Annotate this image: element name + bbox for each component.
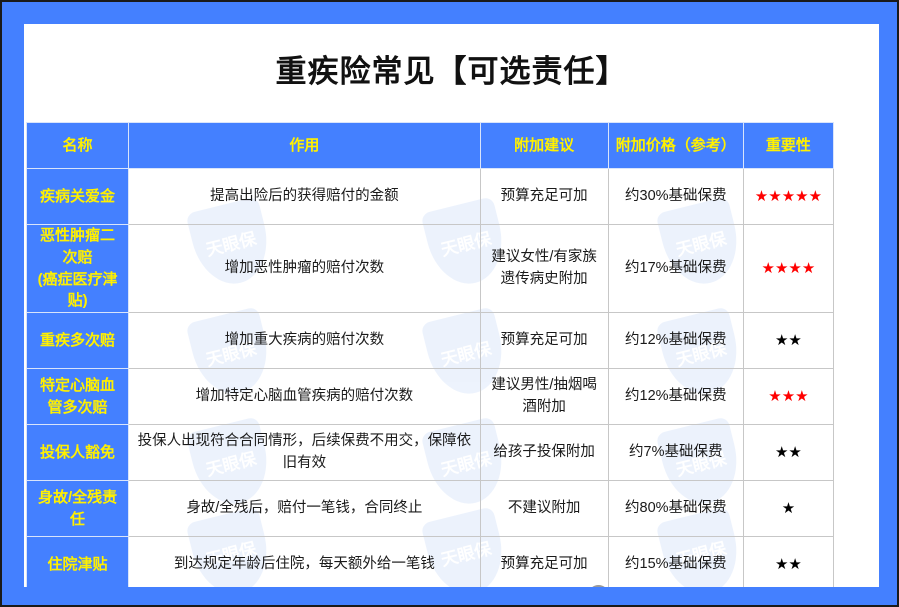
cell-advice: 给孩子投保附加 [480, 425, 608, 481]
cell-name: 重疾多次赔 [27, 313, 129, 369]
cell-importance-stars: ★★★ [743, 369, 833, 425]
critical-illness-options-table: 名称 作用 附加建议 附加价格（参考） 重要性 疾病关爱金提高出险后的获得赔付的… [26, 122, 834, 587]
cell-price: 约80%基础保费 [608, 481, 743, 537]
wechat-icon [589, 585, 619, 588]
table-header-row: 名称 作用 附加建议 附加价格（参考） 重要性 [27, 123, 834, 169]
table-row: 投保人豁免投保人出现符合合同情形，后续保费不用交，保障依旧有效给孩子投保附加约7… [27, 425, 834, 481]
cell-effect: 投保人出现符合合同情形，后续保费不用交，保障依旧有效 [129, 425, 480, 481]
table-row: 特定心脑血管多次赔增加特定心脑血管疾病的赔付次数建议男性/抽烟喝酒附加约12%基… [27, 369, 834, 425]
cell-effect: 增加恶性肿瘤的赔付次数 [129, 225, 480, 313]
cell-name: 特定心脑血管多次赔 [27, 369, 129, 425]
cell-effect: 身故/全残后，赔付一笔钱，合同终止 [129, 481, 480, 537]
column-header-importance: 重要性 [743, 123, 833, 169]
footer-text: 公众号 · 美华保险咨询 [628, 582, 850, 587]
cell-advice: 建议男性/抽烟喝酒附加 [480, 369, 608, 425]
cell-name: 身故/全残责任 [27, 481, 129, 537]
cell-advice: 预算充足可加 [480, 169, 608, 225]
cell-importance-stars: ★★★★★ [743, 169, 833, 225]
cell-effect: 增加特定心脑血管疾病的赔付次数 [129, 369, 480, 425]
cell-effect: 到达规定年龄后住院，每天额外给一笔钱 [129, 537, 480, 588]
cell-importance-stars: ★★★★ [743, 225, 833, 313]
cell-price: 约7%基础保费 [608, 425, 743, 481]
cell-name: 疾病关爱金 [27, 169, 129, 225]
column-header-name: 名称 [27, 123, 129, 169]
cell-name-line2: (癌症医疗津贴) [33, 269, 122, 313]
cell-price: 约12%基础保费 [608, 369, 743, 425]
cell-advice: 预算充足可加 [480, 537, 608, 588]
cell-name: 住院津贴 [27, 537, 129, 588]
cell-importance-stars: ★ [743, 481, 833, 537]
cell-name: 投保人豁免 [27, 425, 129, 481]
table-row: 重疾多次赔增加重大疾病的赔付次数预算充足可加约12%基础保费★★ [27, 313, 834, 369]
options-table-container: 名称 作用 附加建议 附加价格（参考） 重要性 疾病关爱金提高出险后的获得赔付的… [26, 122, 836, 587]
cell-name-line1: 恶性肿瘤二次赔 [33, 225, 122, 269]
cell-price: 约15%基础保费 [608, 537, 743, 588]
cell-price: 约30%基础保费 [608, 169, 743, 225]
cell-effect: 提高出险后的获得赔付的金额 [129, 169, 480, 225]
table-row: 身故/全残责任身故/全残后，赔付一笔钱，合同终止不建议附加约80%基础保费★ [27, 481, 834, 537]
cell-importance-stars: ★★ [743, 537, 833, 588]
page-title: 重疾险常见【可选责任】 [24, 46, 879, 91]
table-row: 恶性肿瘤二次赔(癌症医疗津贴)增加恶性肿瘤的赔付次数建议女性/有家族遗传病史附加… [27, 225, 834, 313]
poster-content: 重疾险常见【可选责任】 天眼保天眼保天眼保天眼保天眼保天眼保天眼保天眼保天眼保天… [24, 24, 879, 587]
table-row: 疾病关爱金提高出险后的获得赔付的金额预算充足可加约30%基础保费★★★★★ [27, 169, 834, 225]
poster-frame: 重疾险常见【可选责任】 天眼保天眼保天眼保天眼保天眼保天眼保天眼保天眼保天眼保天… [0, 0, 899, 607]
footer-account: 公众号 · 美华保险咨询 [589, 582, 850, 587]
column-header-effect: 作用 [129, 123, 480, 169]
cell-advice: 建议女性/有家族遗传病史附加 [480, 225, 608, 313]
column-header-price: 附加价格（参考） [608, 123, 743, 169]
cell-price: 约17%基础保费 [608, 225, 743, 313]
cell-name: 恶性肿瘤二次赔(癌症医疗津贴) [27, 225, 129, 313]
cell-advice: 预算充足可加 [480, 313, 608, 369]
table-body: 疾病关爱金提高出险后的获得赔付的金额预算充足可加约30%基础保费★★★★★恶性肿… [27, 169, 834, 588]
cell-effect: 增加重大疾病的赔付次数 [129, 313, 480, 369]
column-header-advice: 附加建议 [480, 123, 608, 169]
cell-price: 约12%基础保费 [608, 313, 743, 369]
table-row: 住院津贴到达规定年龄后住院，每天额外给一笔钱预算充足可加约15%基础保费★★ [27, 537, 834, 588]
cell-importance-stars: ★★ [743, 313, 833, 369]
cell-advice: 不建议附加 [480, 481, 608, 537]
cell-importance-stars: ★★ [743, 425, 833, 481]
